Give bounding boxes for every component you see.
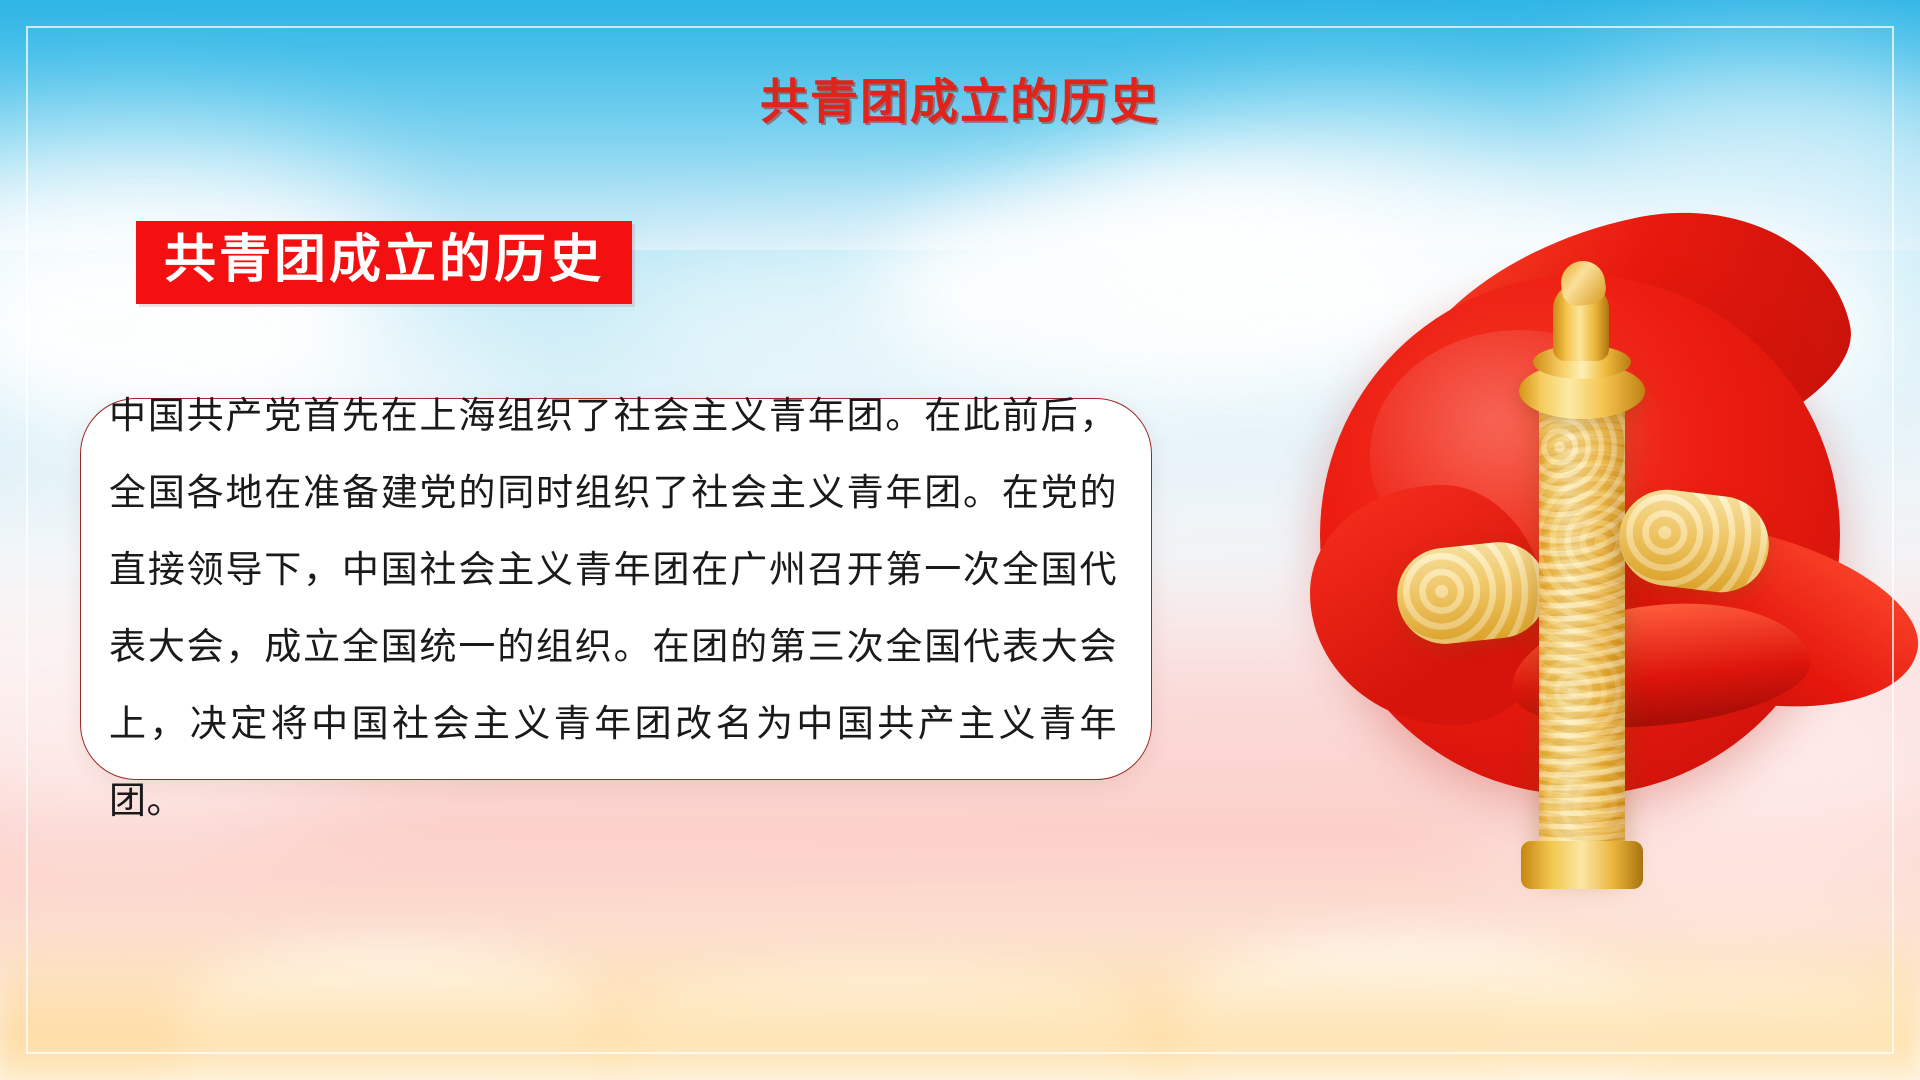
slide-canvas: 共青团成立的历史 共青团成立的历史 中国共产党首先在上海组织了社会主义青年团。在… <box>0 0 1920 1080</box>
content-paragraph: 中国共产党首先在上海组织了社会主义青年团。在此前后，全国各地在准备建党的同时组织… <box>109 377 1117 839</box>
page-title: 共青团成立的历史 <box>0 62 1920 132</box>
content-card: 中国共产党首先在上海组织了社会主义青年团。在此前后，全国各地在准备建党的同时组织… <box>80 398 1152 780</box>
section-heading-text: 共青团成立的历史 <box>164 233 604 288</box>
section-heading-banner: 共青团成立的历史 <box>136 221 632 304</box>
horizon-glow <box>0 930 1920 1080</box>
